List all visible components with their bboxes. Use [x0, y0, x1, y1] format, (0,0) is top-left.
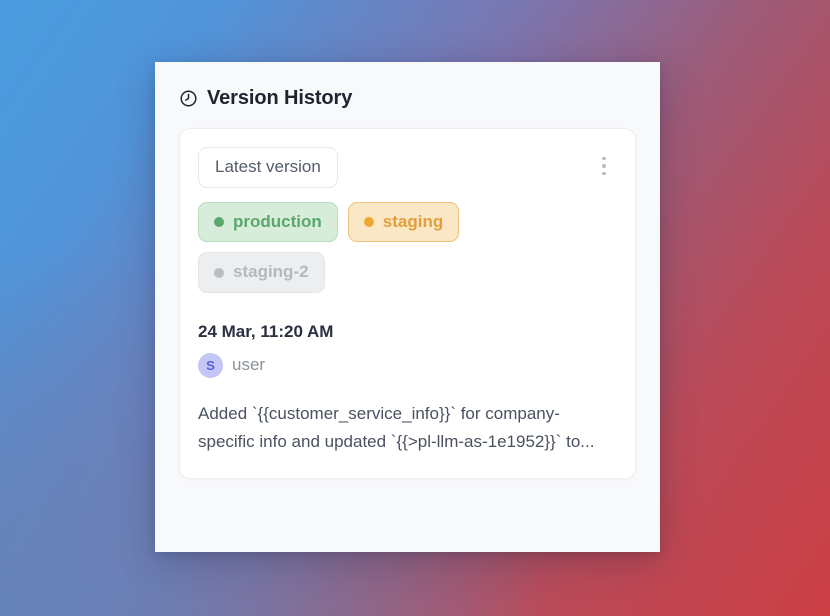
avatar: S	[198, 353, 223, 378]
status-dot-icon	[214, 217, 224, 227]
tag-staging-2[interactable]: staging-2	[198, 252, 325, 293]
tag-label: staging	[383, 213, 443, 232]
status-dot-icon	[214, 268, 224, 278]
version-history-panel: Version History Latest version productio…	[155, 62, 660, 552]
clock-history-icon	[179, 89, 198, 108]
panel-header: Version History	[155, 62, 660, 108]
version-entry-card: Latest version production staging stagin…	[179, 128, 636, 479]
version-timestamp: 24 Mar, 11:20 AM	[198, 323, 617, 342]
tag-label: production	[233, 213, 322, 232]
kebab-dot	[602, 172, 606, 176]
kebab-dot	[602, 164, 606, 168]
tag-label: staging-2	[233, 263, 309, 282]
version-card-header: Latest version	[198, 147, 617, 188]
environment-tag-list: production staging staging-2	[198, 202, 518, 293]
status-dot-icon	[364, 217, 374, 227]
author-row: S user	[198, 353, 617, 378]
version-description: Added `{{customer_service_info}}` for co…	[198, 400, 610, 456]
kebab-dot	[602, 157, 606, 161]
author-name: user	[232, 355, 265, 375]
tag-production[interactable]: production	[198, 202, 338, 243]
tag-staging[interactable]: staging	[348, 202, 459, 243]
version-chip-label: Latest version	[215, 158, 321, 177]
page-title: Version History	[207, 88, 352, 108]
version-chip[interactable]: Latest version	[198, 147, 338, 188]
kebab-menu-icon[interactable]	[593, 153, 615, 179]
